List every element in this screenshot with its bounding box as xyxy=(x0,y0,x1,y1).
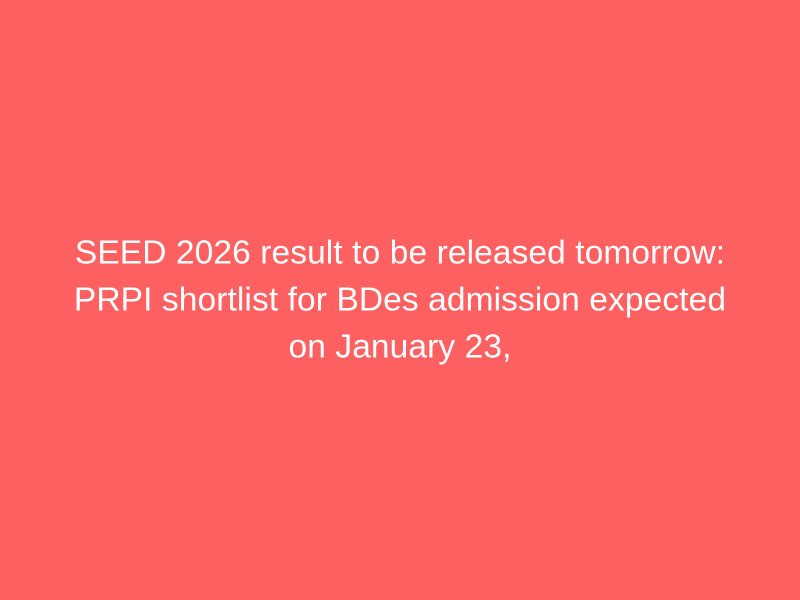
headline-block: SEED 2026 result to be released tomorrow… xyxy=(70,230,730,371)
page-title: SEED 2026 result to be released tomorrow… xyxy=(70,230,730,371)
headline-card: SEED 2026 result to be released tomorrow… xyxy=(0,0,800,600)
